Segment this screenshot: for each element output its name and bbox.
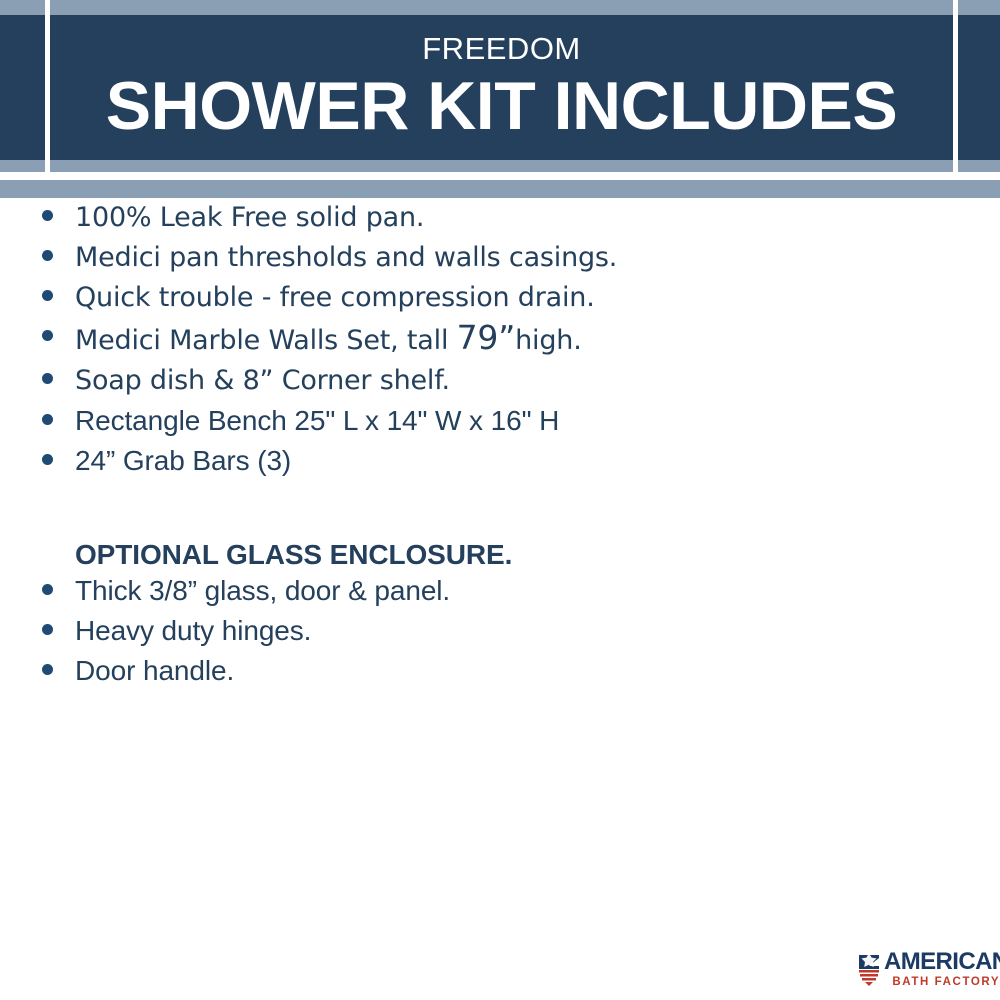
list-item-label: Rectangle Bench 25" L x 14" W x 16" H xyxy=(75,405,559,436)
american-flag-shower-icon xyxy=(856,952,886,986)
included-list-primary: 100% Leak Free solid pan. Medici pan thr… xyxy=(0,198,1000,401)
logo-company-name: AMERICAN xyxy=(884,950,1000,974)
list-item-label: Heavy duty hinges. xyxy=(75,615,311,646)
banner-top-accent-band xyxy=(0,0,1000,15)
list-item-label: Quick trouble - free compression drain. xyxy=(75,282,595,313)
list-item-measurement: 79” xyxy=(457,318,516,357)
bullet-icon xyxy=(42,290,53,301)
bullet-icon xyxy=(42,330,53,341)
list-item: Rectangle Bench 25" L x 14" W x 16" H xyxy=(0,401,1000,441)
bullet-icon xyxy=(42,454,53,465)
list-item-label: Thick 3/8” glass, door & panel. xyxy=(75,575,450,606)
logo-wordmark: AMERICAN BATH FACTORY xyxy=(884,950,1000,989)
list-item: Soap dish & 8” Corner shelf. xyxy=(0,361,1000,401)
brand-logo: AMERICAN BATH FACTORY xyxy=(856,949,984,989)
list-item-label: 100% Leak Free solid pan. xyxy=(75,202,424,233)
list-item-label: Medici pan thresholds and walls casings. xyxy=(75,242,617,273)
header-banner: FREEDOM SHOWER KIT INCLUDES xyxy=(0,0,1000,198)
banner-frame-right-edge xyxy=(953,0,958,178)
list-item-label: Soap dish & 8” Corner shelf. xyxy=(75,365,450,396)
list-item: 100% Leak Free solid pan. xyxy=(0,198,1000,238)
bullet-icon xyxy=(42,414,53,425)
banner-eyebrow: FREEDOM xyxy=(422,33,581,64)
list-item-label-suffix: high. xyxy=(515,325,581,356)
content-area: 100% Leak Free solid pan. Medici pan thr… xyxy=(0,198,1000,691)
list-item: Medici pan thresholds and walls casings. xyxy=(0,238,1000,278)
bullet-icon xyxy=(42,664,53,675)
banner-frame-bottom-edge xyxy=(45,173,958,178)
list-item: Door handle. xyxy=(0,651,1000,691)
optional-section-heading: OPTIONAL GLASS ENCLOSURE. xyxy=(0,539,1000,571)
list-item: 24” Grab Bars (3) xyxy=(0,441,1000,481)
list-item: Medici Marble Walls Set, tall 79”high. xyxy=(0,318,1000,361)
bullet-icon xyxy=(42,250,53,261)
logo-company-subtitle: BATH FACTORY xyxy=(884,977,1000,989)
list-item: Quick trouble - free compression drain. xyxy=(0,278,1000,318)
banner-bottom-accent-band xyxy=(0,180,1000,198)
list-item-label: Door handle. xyxy=(75,655,234,686)
list-item-label-prefix: Medici Marble Walls Set, tall xyxy=(75,325,457,356)
bullet-icon xyxy=(42,210,53,221)
optional-list: Thick 3/8” glass, door & panel. Heavy du… xyxy=(0,571,1000,691)
bullet-icon xyxy=(42,624,53,635)
included-list-secondary: Rectangle Bench 25" L x 14" W x 16" H 24… xyxy=(0,401,1000,481)
list-item: Thick 3/8” glass, door & panel. xyxy=(0,571,1000,611)
banner-text-block: FREEDOM SHOWER KIT INCLUDES xyxy=(50,15,953,160)
list-item: Heavy duty hinges. xyxy=(0,611,1000,651)
banner-headline: SHOWER KIT INCLUDES xyxy=(106,72,897,140)
bullet-icon xyxy=(42,373,53,384)
banner-mid-accent-band xyxy=(0,160,1000,172)
bullet-icon xyxy=(42,584,53,595)
list-item-label: 24” Grab Bars (3) xyxy=(75,445,291,476)
